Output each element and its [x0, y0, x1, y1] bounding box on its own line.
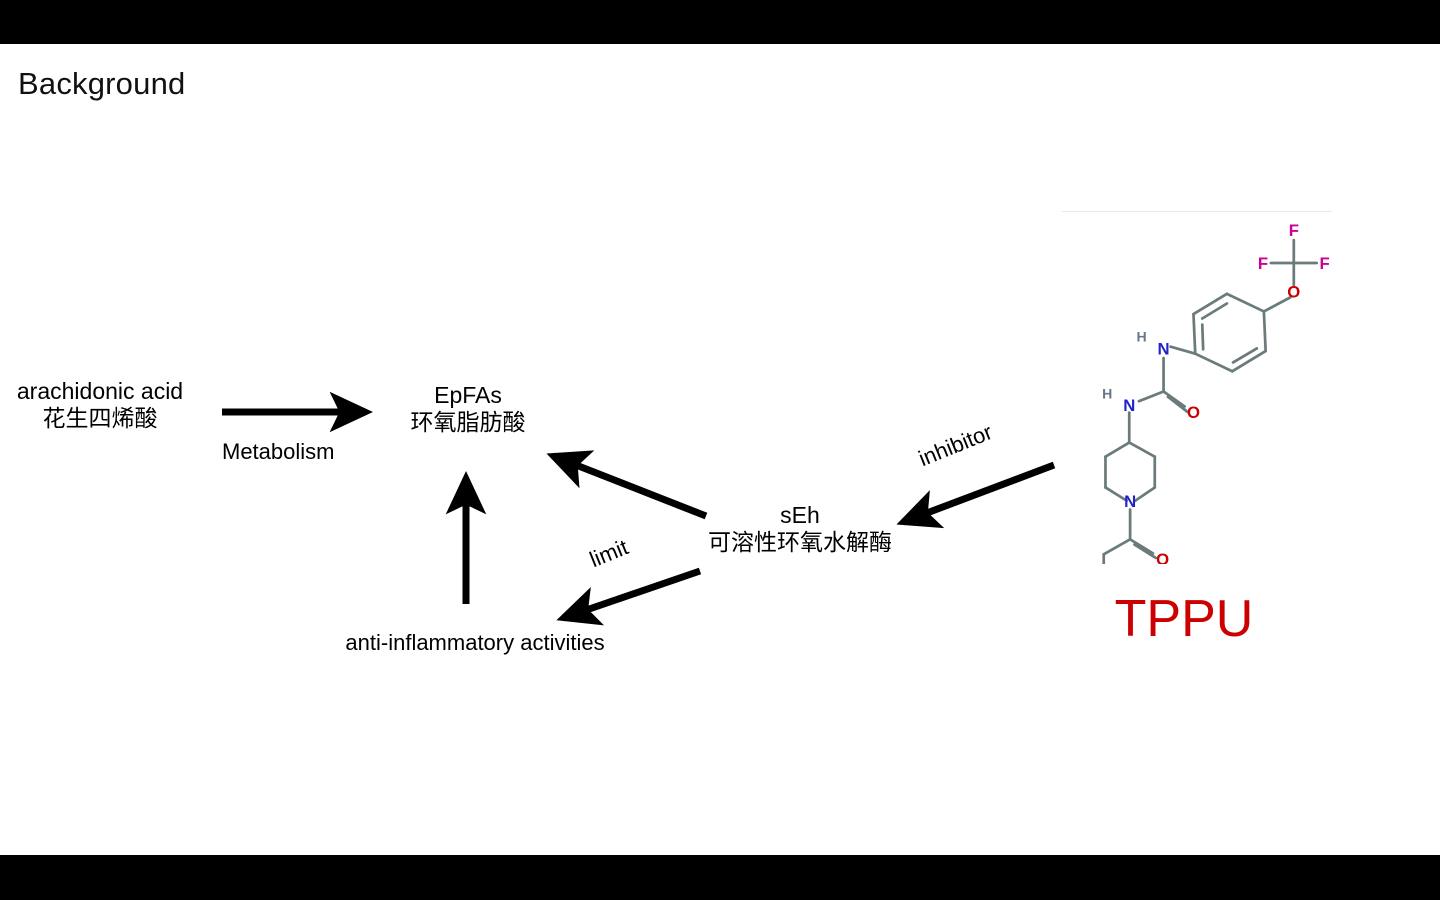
atom-label-hydrogen-urea: H [1102, 386, 1112, 402]
node-seh-english: sEh [660, 501, 940, 529]
atom-label-oxygen-amide: O [1156, 550, 1169, 564]
atom-label-nitrogen-urea: N [1123, 396, 1135, 415]
node-epfas-english: EpFAs [368, 381, 568, 409]
atom-label-fluorine-left: F [1258, 254, 1268, 273]
node-seh: sEh 可溶性环氧水解酶 [660, 501, 940, 557]
atom-label-hydrogen-anilide: H [1136, 328, 1146, 344]
node-anti-inflammatory-activities: anti-inflammatory activities [310, 630, 640, 657]
atom-label-nitrogen-anilide: N [1158, 340, 1170, 359]
slide-canvas: Background [0, 44, 1440, 855]
node-arachidonic-acid: arachidonic acid 花生四烯酸 [0, 377, 200, 433]
atom-label-oxygen-urea: O [1187, 403, 1200, 422]
edge-label-metabolism: Metabolism [222, 439, 334, 465]
atom-label-fluorine-top: F [1289, 221, 1299, 240]
node-anti-inflammatory-activities-english: anti-inflammatory activities [310, 630, 640, 657]
node-arachidonic-acid-chinese: 花生四烯酸 [0, 405, 200, 433]
node-arachidonic-acid-english: arachidonic acid [0, 377, 200, 405]
node-epfas: EpFAs 环氧脂肪酸 [368, 381, 568, 437]
edge-label-limit: limit [586, 534, 632, 573]
atom-label-oxygen-ether: O [1287, 282, 1300, 301]
tppu-structure-image: F F F O N H N H O N O [1062, 211, 1332, 564]
node-epfas-chinese: 环氧脂肪酸 [368, 409, 568, 437]
arrow-seh-to-anti-inflammatory [563, 571, 700, 618]
slide-frame: Background [0, 0, 1440, 900]
edge-label-inhibitor: inhibitor [915, 419, 996, 472]
node-seh-chinese: 可溶性环氧水解酶 [660, 529, 940, 557]
atom-label-fluorine-right: F [1319, 254, 1329, 273]
letterbox-bar-bottom [0, 855, 1440, 900]
page-title: Background [18, 66, 185, 102]
letterbox-bar-top [0, 0, 1440, 44]
tppu-structure-svg: F F F O N H N H O N O [1062, 212, 1332, 564]
tppu-compound-label: TPPU [1064, 589, 1304, 649]
atom-label-nitrogen-piperidine: N [1124, 492, 1136, 511]
